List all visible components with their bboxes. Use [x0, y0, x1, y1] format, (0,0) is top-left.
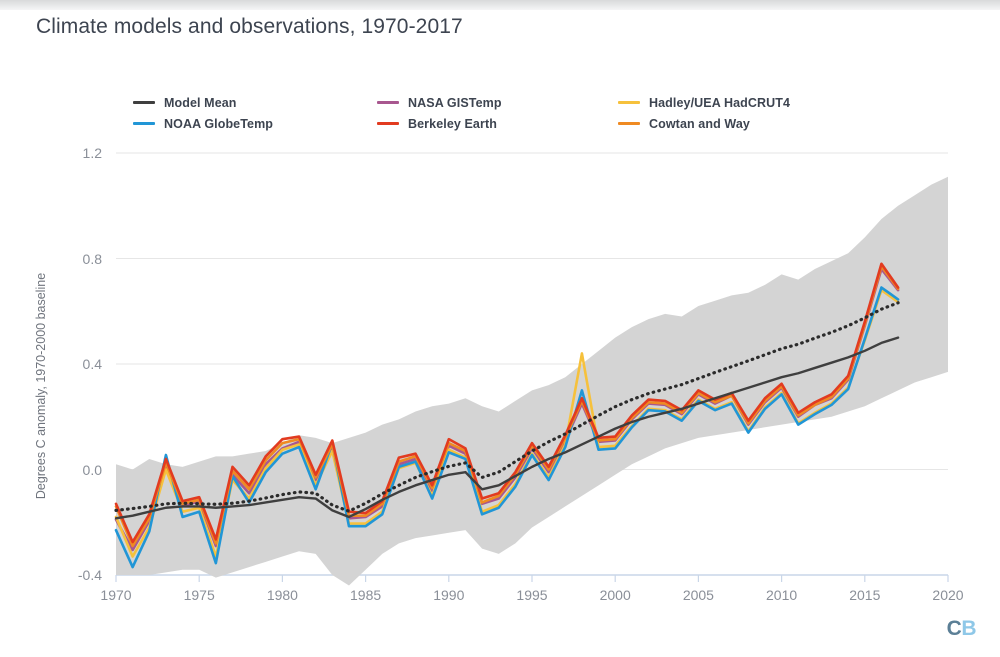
carbon-brief-logo: CB — [947, 617, 976, 641]
chart-plot-area: Degrees C anomaly, 1970-2000 baseline -0… — [0, 0, 1000, 657]
logo-letter-c: C — [947, 617, 962, 640]
logo-letter-b: B — [961, 617, 976, 640]
chart-svg — [0, 0, 1000, 657]
